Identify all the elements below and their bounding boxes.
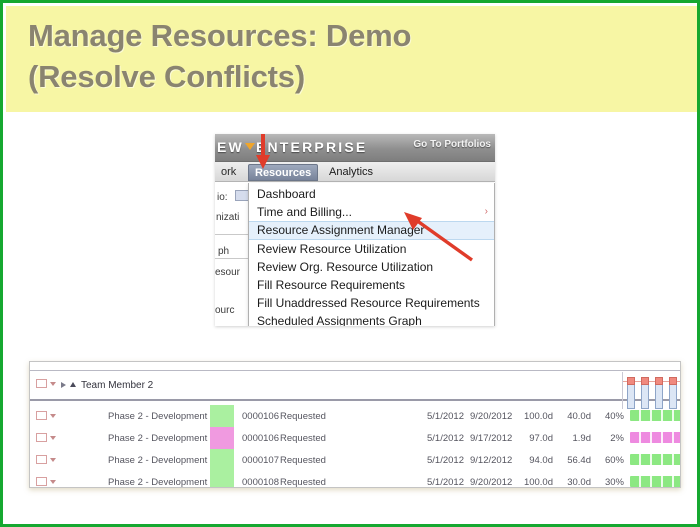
- gantt-bar: [630, 454, 681, 465]
- cell-start-date: 5/1/2012: [427, 411, 464, 422]
- table-row[interactable]: Phase 2 - Development0000106Requested5/1…: [30, 405, 680, 427]
- cell-color-swatch: [210, 427, 234, 449]
- cell-color-swatch: [210, 405, 234, 427]
- gantt-bar: [630, 410, 681, 421]
- cell-percent: 30%: [594, 477, 624, 488]
- cell-percent: 40%: [594, 411, 624, 422]
- team-member-name: Team Member 2: [81, 380, 153, 391]
- cell-status: Requested: [280, 411, 326, 422]
- menu-item-label: Fill Unaddressed Resource Requirements: [257, 296, 480, 310]
- row-controls[interactable]: [36, 411, 56, 423]
- cell-start-date: 5/1/2012: [427, 433, 464, 444]
- cell-assigned: 56.4d: [556, 455, 591, 466]
- cell-start-date: 5/1/2012: [427, 455, 464, 466]
- cell-status: Requested: [280, 433, 326, 444]
- slide-canvas: Manage Resources: Demo (Resolve Conflict…: [0, 0, 700, 527]
- callout-arrow-upleft-icon: [400, 212, 480, 264]
- cell-request-id: 0000106: [242, 433, 279, 444]
- background-divider-1: [215, 234, 248, 235]
- expand-triangle-icon[interactable]: [61, 382, 66, 388]
- gantt-bar: [630, 432, 681, 443]
- background-text-fragment: ourc: [215, 305, 234, 316]
- histogram-bar-overallocation: [641, 377, 649, 385]
- menu-item-label: Scheduled Assignments Graph: [257, 314, 422, 326]
- background-filter-field: [235, 190, 249, 201]
- cell-assigned: 40.0d: [556, 411, 591, 422]
- background-divider-2: [215, 258, 248, 259]
- menu-item-label: Time and Billing...: [257, 205, 352, 219]
- application-menu-screenshot: EWENTERPRISE Go To Portfolios ork Resour…: [215, 134, 495, 326]
- cell-request-id: 0000107: [242, 455, 279, 466]
- menu-item[interactable]: Fill Resource Requirements: [249, 276, 494, 294]
- row-checkbox-icon[interactable]: [36, 379, 47, 388]
- team-member-row-label: Team Member 2: [36, 379, 153, 391]
- table-row[interactable]: Phase 2 - Development0000108Requested5/1…: [30, 471, 680, 488]
- background-text-fragment: nizati: [216, 212, 239, 223]
- cell-color-swatch: [210, 471, 234, 488]
- cell-percent: 2%: [594, 433, 624, 444]
- row-menu-caret-icon[interactable]: [50, 436, 56, 440]
- tab-analytics[interactable]: Analytics: [323, 164, 379, 181]
- cell-status: Requested: [280, 455, 326, 466]
- capacity-histogram: [622, 372, 681, 409]
- collapse-triangle-icon[interactable]: [70, 382, 76, 387]
- cell-finish-date: 9/20/2012: [470, 477, 512, 488]
- app-brand-logo: EWENTERPRISE: [217, 139, 367, 155]
- table-row[interactable]: Phase 2 - Development0000107Requested5/1…: [30, 449, 680, 471]
- row-checkbox-icon[interactable]: [36, 433, 47, 442]
- cell-phase: Phase 2 - Development: [108, 455, 207, 466]
- background-text-fragment: esour: [215, 267, 240, 278]
- cell-phase: Phase 2 - Development: [108, 411, 207, 422]
- cell-finish-date: 9/20/2012: [470, 411, 512, 422]
- cell-work: 94.0d: [515, 455, 553, 466]
- go-to-portfolios-link[interactable]: Go To Portfolios: [413, 139, 491, 150]
- cell-work: 100.0d: [515, 477, 553, 488]
- cell-assigned: 30.0d: [556, 477, 591, 488]
- callout-arrow-down-icon: [253, 134, 273, 170]
- cell-percent: 60%: [594, 455, 624, 466]
- submenu-chevron-right-icon: ›: [485, 203, 488, 221]
- resource-assignment-grid-screenshot: Team Member 2 Phase 2 - Development00001…: [29, 361, 681, 488]
- cell-finish-date: 9/12/2012: [470, 455, 512, 466]
- row-menu-caret-icon[interactable]: [50, 382, 56, 386]
- slide-title-banner: Manage Resources: Demo (Resolve Conflict…: [6, 6, 700, 112]
- cell-start-date: 5/1/2012: [427, 477, 464, 488]
- row-controls[interactable]: [36, 455, 56, 467]
- cell-assigned: 1.9d: [556, 433, 591, 444]
- cell-request-id: 0000108: [242, 477, 279, 488]
- cell-finish-date: 9/17/2012: [470, 433, 512, 444]
- menu-item[interactable]: Scheduled Assignments Graph: [249, 312, 494, 326]
- tab-work[interactable]: ork: [215, 164, 242, 181]
- menu-item[interactable]: Dashboard: [249, 185, 494, 203]
- row-menu-caret-icon[interactable]: [50, 414, 56, 418]
- cell-phase: Phase 2 - Development: [108, 477, 207, 488]
- cell-work: 97.0d: [515, 433, 553, 444]
- cell-request-id: 0000106: [242, 411, 279, 422]
- row-checkbox-icon[interactable]: [36, 411, 47, 420]
- cell-work: 100.0d: [515, 411, 553, 422]
- cell-status: Requested: [280, 477, 326, 488]
- menu-item-label: Dashboard: [257, 187, 316, 201]
- histogram-bar-overallocation: [627, 377, 635, 385]
- row-menu-caret-icon[interactable]: [50, 480, 56, 484]
- menu-item[interactable]: Fill Unaddressed Resource Requirements: [249, 294, 494, 312]
- menu-item-label: Fill Resource Requirements: [257, 278, 405, 292]
- row-checkbox-icon[interactable]: [36, 455, 47, 464]
- background-text-fragment: ph: [218, 246, 229, 257]
- page-title-line-1: Manage Resources: Demo: [28, 16, 700, 57]
- gantt-bar: [630, 476, 681, 487]
- row-checkbox-icon[interactable]: [36, 477, 47, 486]
- row-controls[interactable]: [36, 477, 56, 488]
- row-controls[interactable]: [36, 433, 56, 445]
- cell-color-swatch: [210, 449, 234, 471]
- summary-row-team-member[interactable]: Team Member 2: [30, 371, 680, 401]
- brand-text-prefix: EW: [217, 139, 244, 155]
- histogram-bar-overallocation: [655, 377, 663, 385]
- table-row[interactable]: Phase 2 - Development0000106Requested5/1…: [30, 427, 680, 449]
- menu-item-label: Review Resource Utilization: [257, 242, 406, 256]
- histogram-bar-overallocation: [669, 377, 677, 385]
- page-title-line-2: (Resolve Conflicts): [28, 57, 700, 98]
- row-menu-caret-icon[interactable]: [50, 458, 56, 462]
- cell-phase: Phase 2 - Development: [108, 433, 207, 444]
- background-text-fragment: io:: [217, 192, 228, 203]
